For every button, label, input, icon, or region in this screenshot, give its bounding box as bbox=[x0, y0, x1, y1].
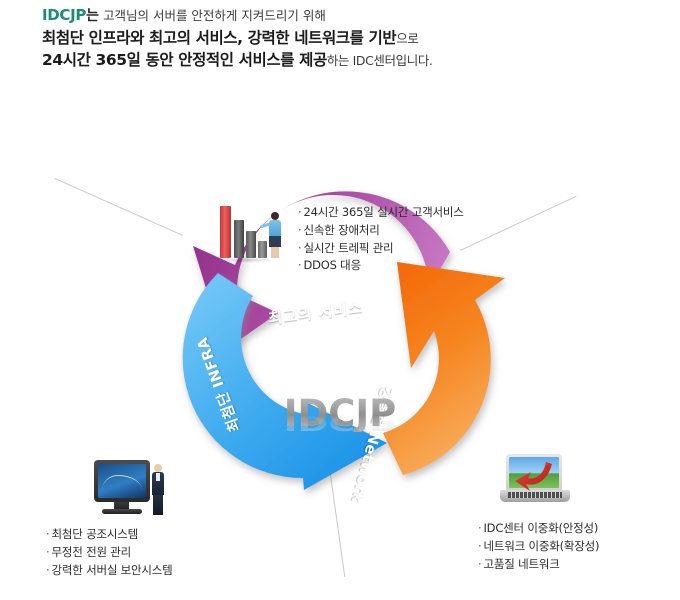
bullet-item: ·DDOS 대응 bbox=[298, 257, 464, 275]
bullet-item: ·신속한 장애처리 bbox=[298, 222, 464, 240]
cycle-diagram: 최고의 서비스 강력한 Network 최첨단 INFRA IDCJP IDCJ… bbox=[0, 90, 680, 600]
bullet-item: ·무정전 전원 관리 bbox=[46, 544, 274, 562]
bar-gray-1 bbox=[234, 220, 244, 258]
bullet-marker: · bbox=[478, 521, 481, 535]
person-legs bbox=[153, 495, 163, 515]
bullet-marker: · bbox=[298, 223, 301, 237]
monitor-screen bbox=[98, 464, 146, 498]
red-curved-arrow-icon bbox=[514, 460, 558, 494]
person-presenter-figure bbox=[266, 212, 284, 258]
header-line-3: 24시간 365일 동안 안정적인 서비스를 제공하는 IDC센터입니다. bbox=[42, 49, 642, 71]
bullet-item: ·최첨단 공조시스템 bbox=[46, 526, 274, 544]
person-torso bbox=[269, 220, 281, 236]
header-line-3-main: 24시간 365일 동안 안정적인 서비스를 제공 bbox=[42, 51, 327, 69]
bar-red bbox=[220, 206, 231, 258]
header-line-1-rest: 고객님의 서버를 안전하게 지켜드리기 위해 bbox=[99, 8, 326, 23]
bullet-text: 고품질 네트워크 bbox=[483, 557, 559, 571]
bullet-item: ·24시간 365일 실시간 고객서비스 bbox=[298, 204, 464, 222]
bullet-item: ·강력한 서버실 보안시스템 bbox=[46, 562, 274, 580]
bullet-text: 24시간 365일 실시간 고객서비스 bbox=[303, 205, 463, 219]
laptop-red-arrow-icon bbox=[500, 452, 572, 510]
bullet-text: 무정전 전원 관리 bbox=[51, 545, 131, 559]
bullet-item: ·네트워크 이중화(확장성) bbox=[478, 538, 678, 556]
bullet-marker: · bbox=[478, 539, 481, 553]
bullet-text: DDOS 대응 bbox=[303, 258, 360, 272]
callout-network-bullets: ·IDC센터 이중화(안정성) ·네트워크 이중화(확장성) ·고품질 네트워크 bbox=[478, 520, 678, 573]
monitor-frame bbox=[94, 460, 150, 502]
header-line-2-main: 최첨단 인프라와 최고의 서비스, 강력한 네트워크를 기반 bbox=[42, 29, 396, 47]
callout-service: ·24시간 365일 실시간 고객서비스 ·신속한 장애처리 ·실시간 트레픽 … bbox=[218, 202, 464, 275]
callout-infra: ·최첨단 공조시스템 ·무정전 전원 관리 ·강력한 서버실 보안시스템 bbox=[44, 458, 274, 579]
leader-line-service bbox=[55, 178, 183, 236]
header-line-2: 최첨단 인프라와 최고의 서비스, 강력한 네트워크를 기반으로 bbox=[42, 27, 642, 49]
header-line-2-tail: 으로 bbox=[396, 31, 418, 46]
person-legs bbox=[271, 247, 279, 258]
bullet-item: ·IDC센터 이중화(안정성) bbox=[478, 520, 678, 538]
brand-suffix: 는 bbox=[86, 8, 99, 24]
person-businessman-figure bbox=[150, 464, 166, 516]
brand-name: IDCJP bbox=[42, 6, 86, 24]
bullet-item: ·고품질 네트워크 bbox=[478, 556, 678, 574]
callout-service-bullets: ·24시간 365일 실시간 고객서비스 ·신속한 장애처리 ·실시간 트레픽 … bbox=[298, 204, 464, 275]
bullet-marker: · bbox=[298, 205, 301, 219]
bullet-marker: · bbox=[298, 241, 301, 255]
bullet-text: IDC센터 이중화(안정성) bbox=[483, 521, 598, 535]
bullet-marker: · bbox=[46, 527, 49, 541]
bullet-marker: · bbox=[298, 258, 301, 272]
monitor-base bbox=[102, 509, 142, 514]
bullet-marker: · bbox=[478, 557, 481, 571]
bullet-item: ·실시간 트레픽 관리 bbox=[298, 240, 464, 258]
monitor-businessman-icon bbox=[92, 458, 166, 518]
bullet-text: 신속한 장애처리 bbox=[303, 223, 379, 237]
bullet-text: 최첨단 공조시스템 bbox=[51, 527, 138, 541]
bullet-text: 강력한 서버실 보안시스템 bbox=[51, 563, 172, 577]
person-head bbox=[271, 212, 279, 220]
bullet-text: 네트워크 이중화(확장성) bbox=[483, 539, 599, 553]
bar-gray-2 bbox=[246, 231, 256, 258]
bar-chart-person-icon bbox=[218, 202, 284, 268]
header-line-3-tail: 하는 IDC센터입니다. bbox=[327, 53, 433, 68]
header-line-1: IDCJP는 고객님의 서버를 안전하게 지켜드리기 위해 bbox=[42, 4, 642, 27]
arrow-arc-network bbox=[383, 262, 505, 475]
bullet-marker: · bbox=[46, 545, 49, 559]
bullet-text: 실시간 트레픽 관리 bbox=[303, 241, 393, 255]
header-text-block: IDCJP는 고객님의 서버를 안전하게 지켜드리기 위해 최첨단 인프라와 최… bbox=[42, 4, 642, 72]
bullet-marker: · bbox=[46, 563, 49, 577]
callout-infra-bullets: ·최첨단 공조시스템 ·무정전 전원 관리 ·강력한 서버실 보안시스템 bbox=[46, 526, 274, 579]
person-head bbox=[154, 464, 162, 472]
person-skirt bbox=[269, 236, 281, 247]
person-shirt bbox=[156, 473, 160, 481]
callout-network: ·IDC센터 이중화(안정성) ·네트워크 이중화(확장성) ·고품질 네트워크 bbox=[478, 452, 678, 573]
